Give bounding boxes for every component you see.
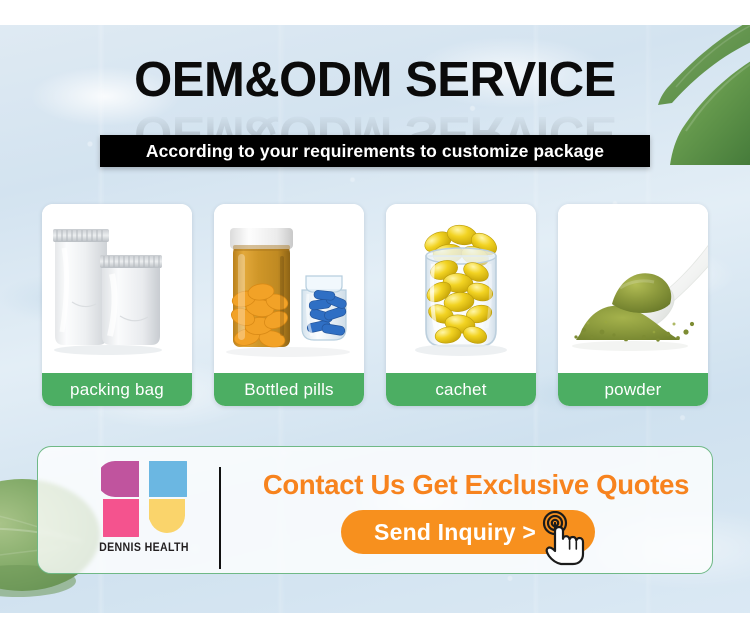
send-inquiry-label: Send Inquiry >: [374, 519, 562, 546]
subtitle-text: According to your requirements to custom…: [146, 141, 604, 162]
product-card-label: packing bag: [42, 373, 192, 406]
banner-content: Contact Us Get Exclusive Quotes Send Inq…: [238, 447, 713, 574]
product-label-text: cachet: [435, 380, 486, 400]
banner-divider: [219, 467, 221, 569]
product-label-text: powder: [605, 380, 662, 400]
contact-banner: DENNIS HEALTH Contact Us Get Exclusive Q…: [37, 446, 713, 574]
packing-bag-photo: [42, 204, 192, 373]
bottom-white-margin: [0, 613, 750, 635]
logo-pinwheel-icon: [101, 459, 187, 537]
product-card-powder[interactable]: powder: [558, 204, 708, 406]
product-card-label: Bottled pills: [214, 373, 364, 406]
bottled-pills-photo: [214, 204, 364, 373]
cachet-photo: [386, 204, 536, 373]
product-card-row: packing bag: [42, 204, 708, 406]
brand-logo: DENNIS HEALTH: [84, 459, 204, 564]
send-inquiry-button[interactable]: Send Inquiry >: [341, 510, 595, 554]
subtitle-bar: According to your requirements to custom…: [100, 135, 650, 167]
product-card-label: powder: [558, 373, 708, 406]
powder-photo: [558, 204, 708, 373]
product-card-label: cachet: [386, 373, 536, 406]
product-label-text: Bottled pills: [244, 380, 334, 400]
product-card-bottled-pills[interactable]: Bottled pills: [214, 204, 364, 406]
product-card-cachet[interactable]: cachet: [386, 204, 536, 406]
product-card-packing-bag[interactable]: packing bag: [42, 204, 192, 406]
product-label-text: packing bag: [70, 380, 164, 400]
contact-headline: Contact Us Get Exclusive Quotes: [238, 469, 713, 501]
top-white-margin: [0, 0, 750, 25]
logo-wordmark: DENNIS HEALTH: [89, 542, 199, 554]
promo-banner-page: OEM&ODM SERVICE OEM&ODM SERVICE Accordin…: [0, 0, 750, 635]
